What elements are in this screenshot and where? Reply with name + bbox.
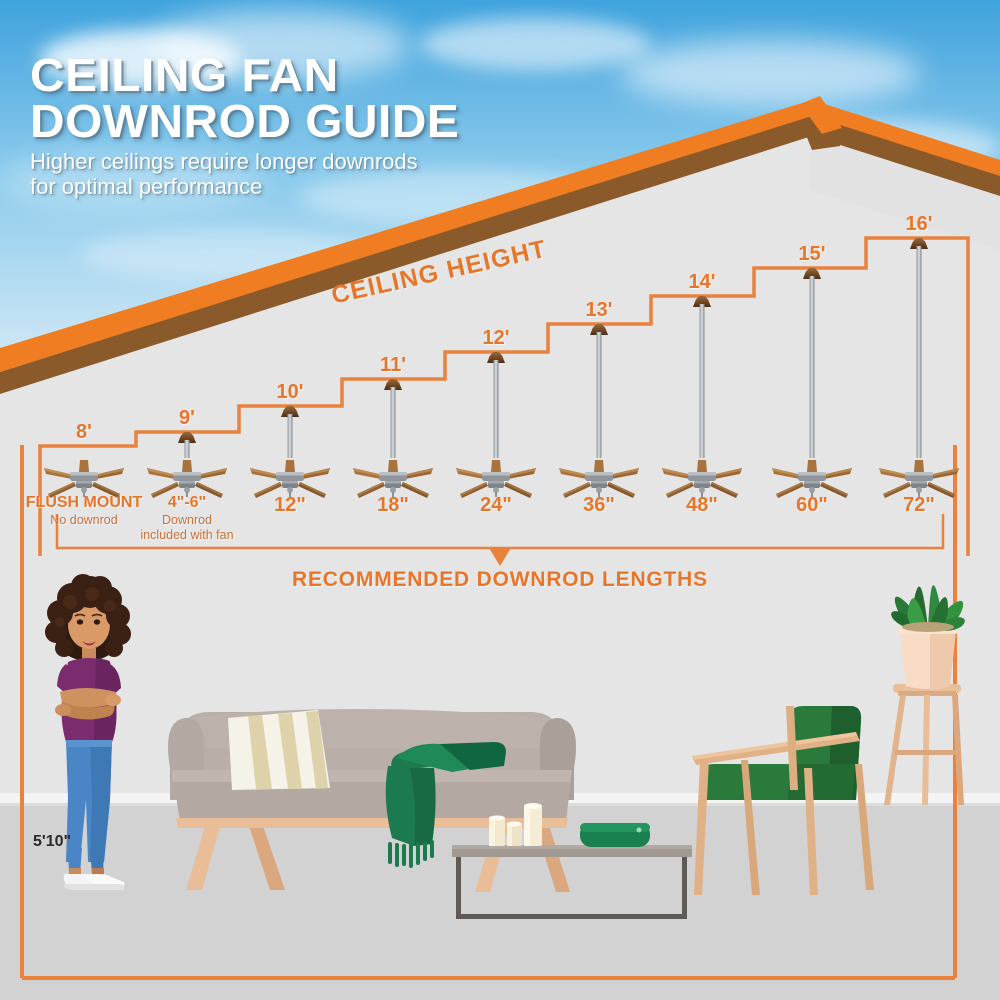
fan-unit-15ft[interactable] [764,268,860,500]
green-book [580,823,650,847]
ceiling-fan-icon [36,452,132,500]
striped-pillow [228,710,330,790]
ceiling-fan-icon [139,452,235,500]
ceiling-fan-icon [871,452,967,500]
fan-downrod [597,332,602,458]
downrod-length-label-4: 24" [480,494,512,517]
ceiling-fan-icon [551,452,647,500]
fan-downrod [700,304,705,458]
person-height-label: 5'10" [33,833,71,851]
downrod-length-label-0: FLUSH MOUNTNo downrod [26,494,142,527]
downrod-length-value: 24" [480,494,512,517]
ceiling-fan-icon [345,452,441,500]
fan-unit-8ft[interactable] [36,446,132,500]
ceiling-fan-icon [654,452,750,500]
downrod-length-label-2: 12" [274,494,306,517]
fan-downrod [494,360,499,458]
downrod-length-value: 4"-6" [140,494,233,512]
fan-unit-10ft[interactable] [242,406,338,500]
ceiling-step-label-13ft: 13' [585,299,612,322]
ceiling-fan-icon [448,452,544,500]
fan-unit-14ft[interactable] [654,296,750,500]
fan-downrod [810,276,815,458]
downrod-length-value: FLUSH MOUNT [26,494,142,512]
fan-unit-11ft[interactable] [345,379,441,500]
fan-unit-16ft[interactable] [871,238,967,500]
downrod-note-line-2: included with fan [140,528,233,542]
ceiling-step-label-15ft: 15' [798,243,825,266]
downrod-length-label-7: 60" [796,494,828,517]
fan-unit-9ft[interactable] [139,432,235,500]
ceiling-fan-icon [242,452,338,500]
fan-downrod [391,387,396,458]
fan-unit-13ft[interactable] [551,324,647,500]
downrod-length-label-3: 18" [377,494,409,517]
ceiling-step-label-14ft: 14' [688,271,715,294]
downrod-length-label-5: 36" [583,494,615,517]
downrod-length-value: 72" [903,494,935,517]
infographic-canvas: CEILING FAN DOWNROD GUIDE Higher ceiling… [0,0,1000,1000]
ceiling-step-label-12ft: 12' [482,327,509,350]
downrod-length-label-6: 48" [686,494,718,517]
downrod-note-line-1: Downrod [140,513,233,527]
title-line-1: CEILING FAN [30,52,459,98]
ceiling-step-label-11ft: 11' [380,354,406,377]
downrod-length-value: 18" [377,494,409,517]
ceiling-fan-icon [764,452,860,500]
downrod-length-label-8: 72" [903,494,935,517]
ceiling-step-label-16ft: 16' [905,213,932,236]
downrod-length-label-1: 4"-6"Downrodincluded with fan [140,494,233,542]
downrod-length-value: 60" [796,494,828,517]
subtitle-line-1: Higher ceilings require longer downrods [30,149,443,174]
downrod-length-value: 48" [686,494,718,517]
fan-unit-12ft[interactable] [448,352,544,500]
downrod-length-value: 12" [274,494,306,517]
downrod-note-line-1: No downrod [26,513,142,527]
fan-downrod [917,246,922,458]
ceiling-step-label-9ft: 9' [179,407,195,430]
downrod-length-value: 36" [583,494,615,517]
title-line-2: DOWNROD GUIDE [30,98,459,144]
plant-pot [898,626,958,690]
title-block: CEILING FAN DOWNROD GUIDE Higher ceiling… [30,52,443,199]
recommended-downrod-label: RECOMMENDED DOWNROD LENGTHS [292,568,708,592]
ceiling-step-label-8ft: 8' [76,421,92,444]
ceiling-step-label-10ft: 10' [276,381,303,404]
subtitle-line-2: for optimal performance [30,174,443,199]
